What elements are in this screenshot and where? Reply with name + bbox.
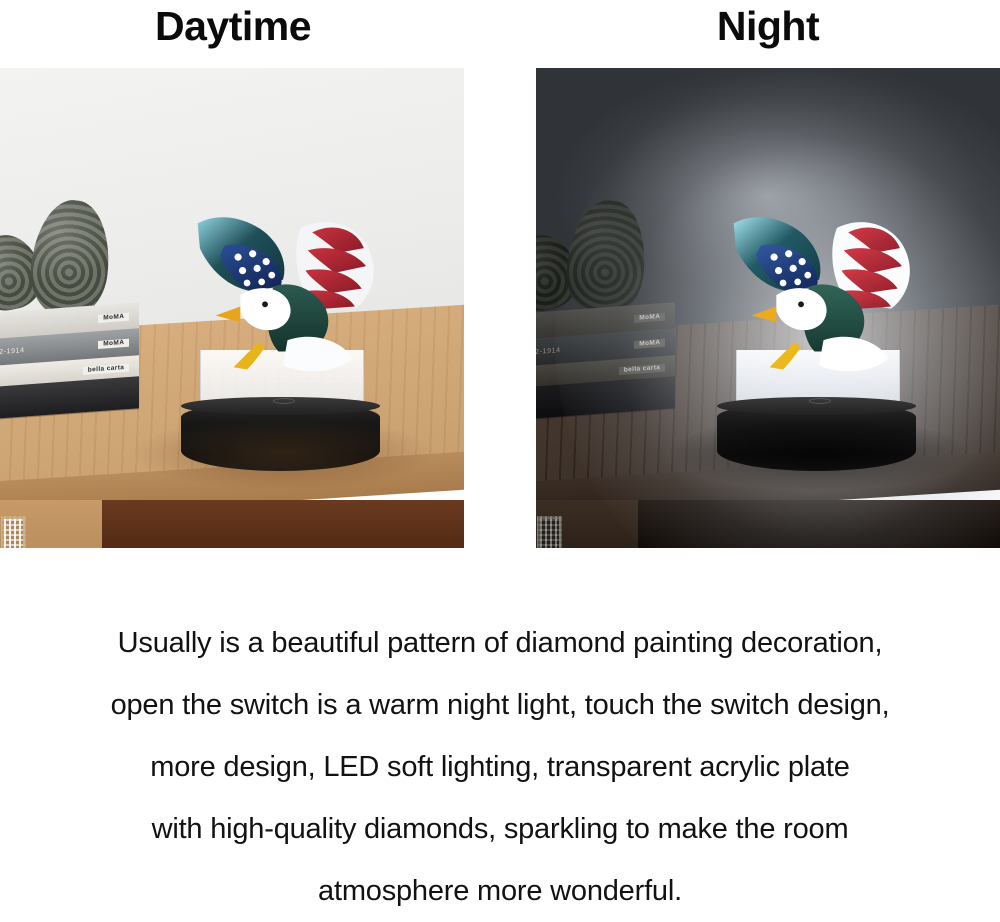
pine-cone-group bbox=[536, 193, 675, 318]
eagle-figure-icon bbox=[703, 183, 935, 408]
eagle-night-light bbox=[167, 183, 399, 471]
pine-cone-large bbox=[26, 197, 115, 322]
book-publisher-label: bella carta bbox=[619, 363, 666, 375]
lamp-shadow bbox=[130, 416, 436, 491]
touch-switch-icon[interactable] bbox=[273, 398, 295, 404]
book-publisher-label: bella carta bbox=[83, 363, 130, 375]
book-publisher-label: MoMA bbox=[635, 312, 666, 323]
book-publisher-label: MoMA bbox=[99, 339, 130, 350]
cabinet-door bbox=[0, 500, 102, 548]
cabinet-background bbox=[0, 500, 464, 548]
eagle-figure-icon bbox=[167, 183, 399, 408]
rattan-weave-panel bbox=[537, 516, 562, 548]
eagle-night-light bbox=[703, 183, 935, 471]
lamp-shadow bbox=[666, 416, 972, 491]
product-photo-night: INE MoMA 1912-1914 MoMA sign bella carta bbox=[536, 68, 1000, 548]
book-title: sign bbox=[536, 373, 537, 381]
panel-headings: Daytime Night bbox=[0, 0, 1000, 62]
lamp-base-top bbox=[181, 397, 381, 415]
touch-switch-icon[interactable] bbox=[809, 398, 831, 404]
product-description: Usually is a beautiful pattern of diamon… bbox=[0, 612, 1000, 922]
book-publisher-label: MoMA bbox=[99, 312, 130, 323]
description-line: more design, LED soft lighting, transpar… bbox=[0, 736, 1000, 798]
cabinet-side-wall bbox=[102, 500, 464, 548]
book-title: sign bbox=[0, 373, 1, 381]
comparison-panels: INE MoMA 1912-1914 MoMA sign bella carta bbox=[0, 68, 1000, 548]
book-title: 1912-1914 bbox=[0, 347, 25, 357]
cabinet-background bbox=[536, 500, 1000, 548]
description-line: with high-quality diamonds, sparkling to… bbox=[0, 798, 1000, 860]
pine-cone-large bbox=[562, 197, 651, 322]
lamp-base-top bbox=[717, 397, 917, 415]
description-line: Usually is a beautiful pattern of diamon… bbox=[0, 612, 1000, 674]
cabinet-door bbox=[536, 500, 638, 548]
description-line: atmosphere more wonderful. bbox=[0, 860, 1000, 922]
description-line: open the switch is a warm night light, t… bbox=[0, 674, 1000, 736]
pine-cone-group bbox=[0, 193, 139, 318]
book-stack: INE MoMA 1912-1914 MoMA sign bella carta bbox=[0, 308, 139, 414]
rattan-weave-panel bbox=[1, 516, 26, 548]
cabinet-side-wall bbox=[638, 500, 1000, 548]
product-photo-daytime: INE MoMA 1912-1914 MoMA sign bella carta bbox=[0, 68, 464, 548]
book-title: 1912-1914 bbox=[536, 347, 561, 357]
book-stack: INE MoMA 1912-1914 MoMA sign bella carta bbox=[536, 308, 675, 414]
heading-night: Night bbox=[536, 0, 1000, 52]
heading-daytime: Daytime bbox=[0, 0, 466, 52]
book-publisher-label: MoMA bbox=[635, 339, 666, 350]
